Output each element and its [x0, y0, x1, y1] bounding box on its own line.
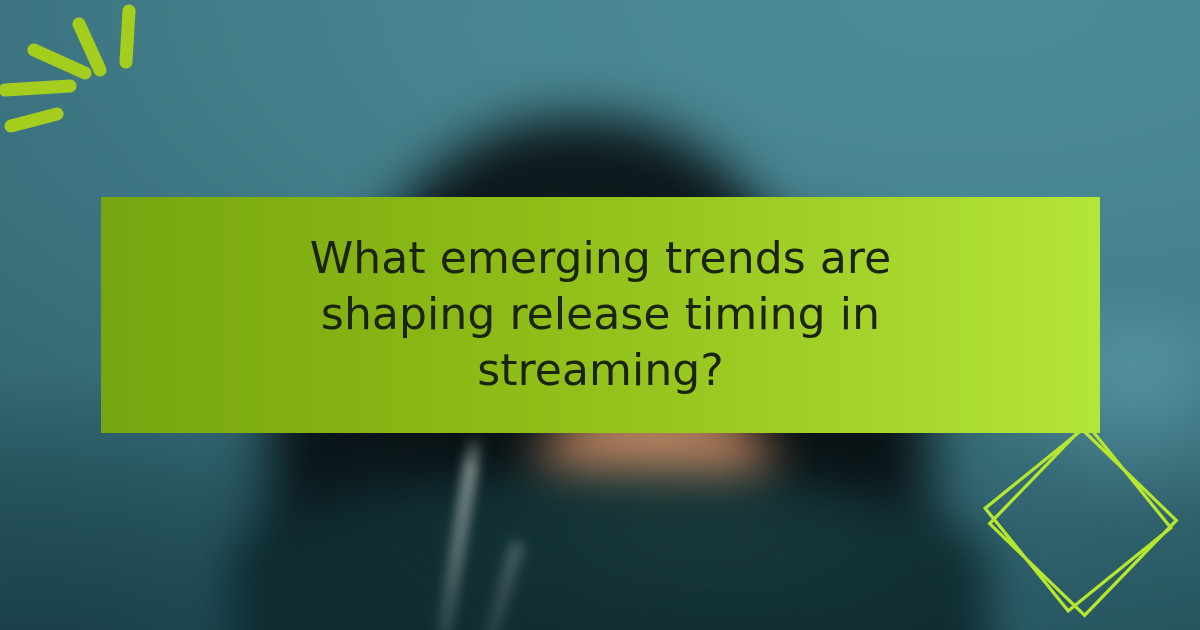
- headline-banner: What emerging trends are shaping release…: [101, 197, 1100, 433]
- page-title: What emerging trends are shaping release…: [231, 231, 971, 400]
- social-card: What emerging trends are shaping release…: [0, 0, 1200, 630]
